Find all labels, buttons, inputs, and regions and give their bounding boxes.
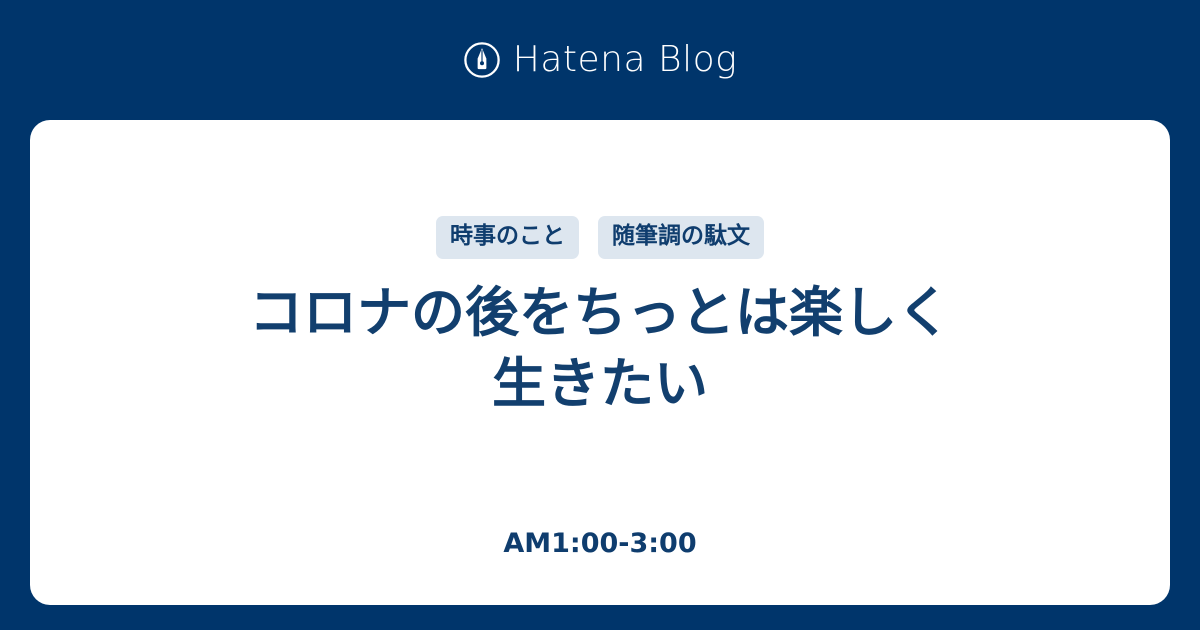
blog-name[interactable]: AM1:00-3:00 [30,530,1170,557]
entry-title[interactable]: コロナの後をちっとは楽しく 生きたい [249,277,951,420]
entry-title-line: コロナの後をちっとは楽しく [249,277,951,348]
hatena-pen-nib-icon [463,41,501,79]
category-tag[interactable]: 時事のこと [436,216,579,259]
site-header: Hatena Blog [0,0,1200,120]
entry-title-line: 生きたい [249,348,951,419]
entry-card: 時事のこと 随筆調の駄文 コロナの後をちっとは楽しく 生きたい AM1:00-3… [30,120,1170,605]
hatena-logo[interactable] [463,41,501,79]
brand-name: Hatena Blog [513,42,737,78]
category-tag[interactable]: 随筆調の駄文 [598,216,764,259]
category-tag-list: 時事のこと 随筆調の駄文 [436,216,764,259]
